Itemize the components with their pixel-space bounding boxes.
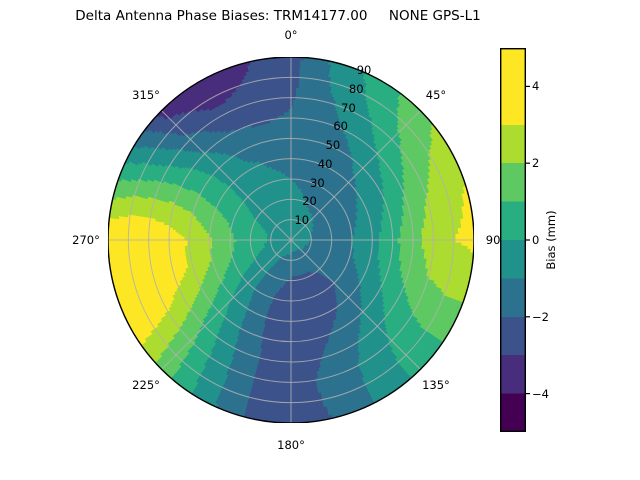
polar-contour-plot[interactable] xyxy=(108,57,474,423)
radial-tick-label-60: 60 xyxy=(333,119,348,133)
theta-tick-label-135: 135° xyxy=(422,378,450,392)
page-title: Delta Antenna Phase Biases: TRM14177.00 … xyxy=(0,8,556,24)
colorbar-tick-label-2: 0 xyxy=(532,233,539,247)
theta-tick-label-315: 315° xyxy=(132,88,160,102)
polar-axes[interactable]: 0°45°90°135°180°225°270°315°102030405060… xyxy=(108,57,474,423)
radial-tick-label-10: 10 xyxy=(294,213,309,227)
colorbar-tick-label-4: 4 xyxy=(532,79,539,93)
radial-tick-label-70: 70 xyxy=(341,101,356,115)
colorbar-tick-label-1: −2 xyxy=(532,310,549,324)
colorbar-axes[interactable]: −4−2024 xyxy=(500,48,526,432)
colorbar-tick-label-0: −4 xyxy=(532,387,549,401)
radial-tick-label-50: 50 xyxy=(326,138,341,152)
theta-tick-label-225: 225° xyxy=(132,378,160,392)
radial-tick-label-80: 80 xyxy=(349,82,364,96)
figure-canvas: Delta Antenna Phase Biases: TRM14177.00 … xyxy=(0,0,640,480)
radial-tick-label-90: 90 xyxy=(357,63,372,77)
radial-tick-label-30: 30 xyxy=(310,176,325,190)
theta-tick-label-180: 180° xyxy=(277,438,305,452)
colorbar-title: Bias (mm) xyxy=(544,210,558,269)
theta-tick-label-45: 45° xyxy=(426,88,446,102)
theta-tick-label-270: 270° xyxy=(72,233,100,247)
colorbar-tick-label-3: 2 xyxy=(532,156,539,170)
radial-tick-label-20: 20 xyxy=(302,194,317,208)
radial-tick-label-40: 40 xyxy=(318,157,333,171)
colorbar-gradient xyxy=(500,48,532,432)
theta-tick-label-0: 0° xyxy=(284,28,297,42)
